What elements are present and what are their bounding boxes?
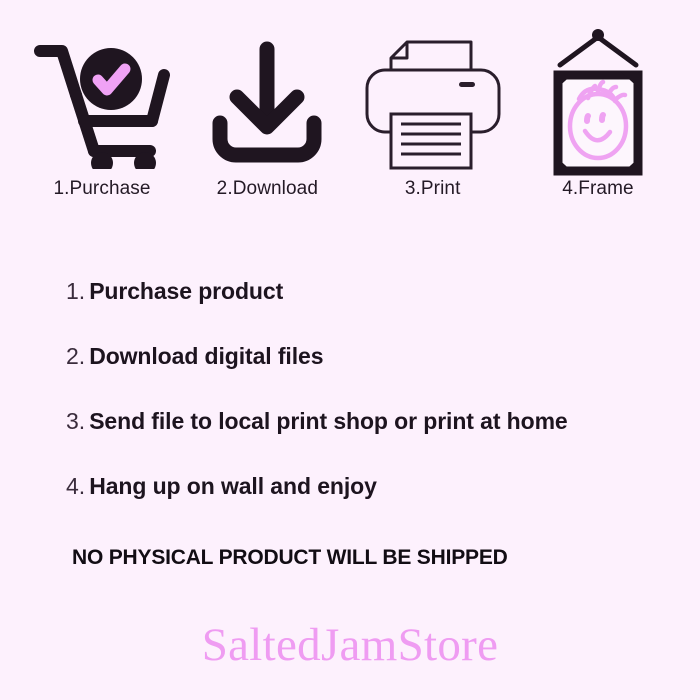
printer-indicator	[459, 82, 475, 87]
instruction-row-1: 1. Purchase product	[0, 278, 700, 343]
frame-wire	[560, 37, 636, 65]
instruction-text-3: Send file to local print shop or print a…	[89, 408, 567, 435]
instruction-row-3: 3. Send file to local print shop or prin…	[0, 408, 700, 473]
step-download-art	[192, 31, 342, 176]
instruction-number-4: 4.	[66, 473, 85, 500]
step-print: 3.Print	[353, 31, 513, 200]
brand-wordmark: SaltedJamStore	[0, 618, 700, 672]
step-frame: 4.Frame	[518, 31, 678, 200]
step-purchase-art	[27, 31, 177, 176]
step-purchase: 1.Purchase	[22, 31, 182, 200]
instruction-row-4: 4. Hang up on wall and enjoy	[0, 473, 700, 538]
instruction-number-3: 3.	[66, 408, 85, 435]
instruction-text-1: Purchase product	[89, 278, 283, 305]
steps-strip: 1.Purchase 2.Download	[0, 0, 700, 200]
step-label-print: 3.Print	[405, 178, 461, 200]
instruction-text-4: Hang up on wall and enjoy	[89, 473, 377, 500]
download-arrow-tray-icon	[202, 39, 332, 169]
printer-icon	[363, 38, 503, 170]
printer-paper-out	[391, 114, 471, 168]
printer-paper-top	[391, 42, 471, 70]
instruction-number-1: 1.	[66, 278, 85, 305]
instruction-row-2: 2. Download digital files	[0, 343, 700, 408]
step-label-download: 2.Download	[217, 178, 318, 200]
shopping-cart-check-icon	[32, 39, 172, 169]
step-label-purchase: 1.Purchase	[53, 178, 150, 200]
step-download: 2.Download	[187, 31, 347, 200]
instruction-number-2: 2.	[66, 343, 85, 370]
step-print-art	[358, 31, 508, 176]
instruction-text-2: Download digital files	[89, 343, 323, 370]
step-label-frame: 4.Frame	[562, 178, 633, 200]
disclaimer-text: NO PHYSICAL PRODUCT WILL BE SHIPPED	[0, 546, 700, 570]
step-frame-art	[523, 31, 673, 176]
instructions-list: 1. Purchase product 2. Download digital …	[0, 278, 700, 538]
hanging-picture-frame-icon	[532, 29, 664, 179]
